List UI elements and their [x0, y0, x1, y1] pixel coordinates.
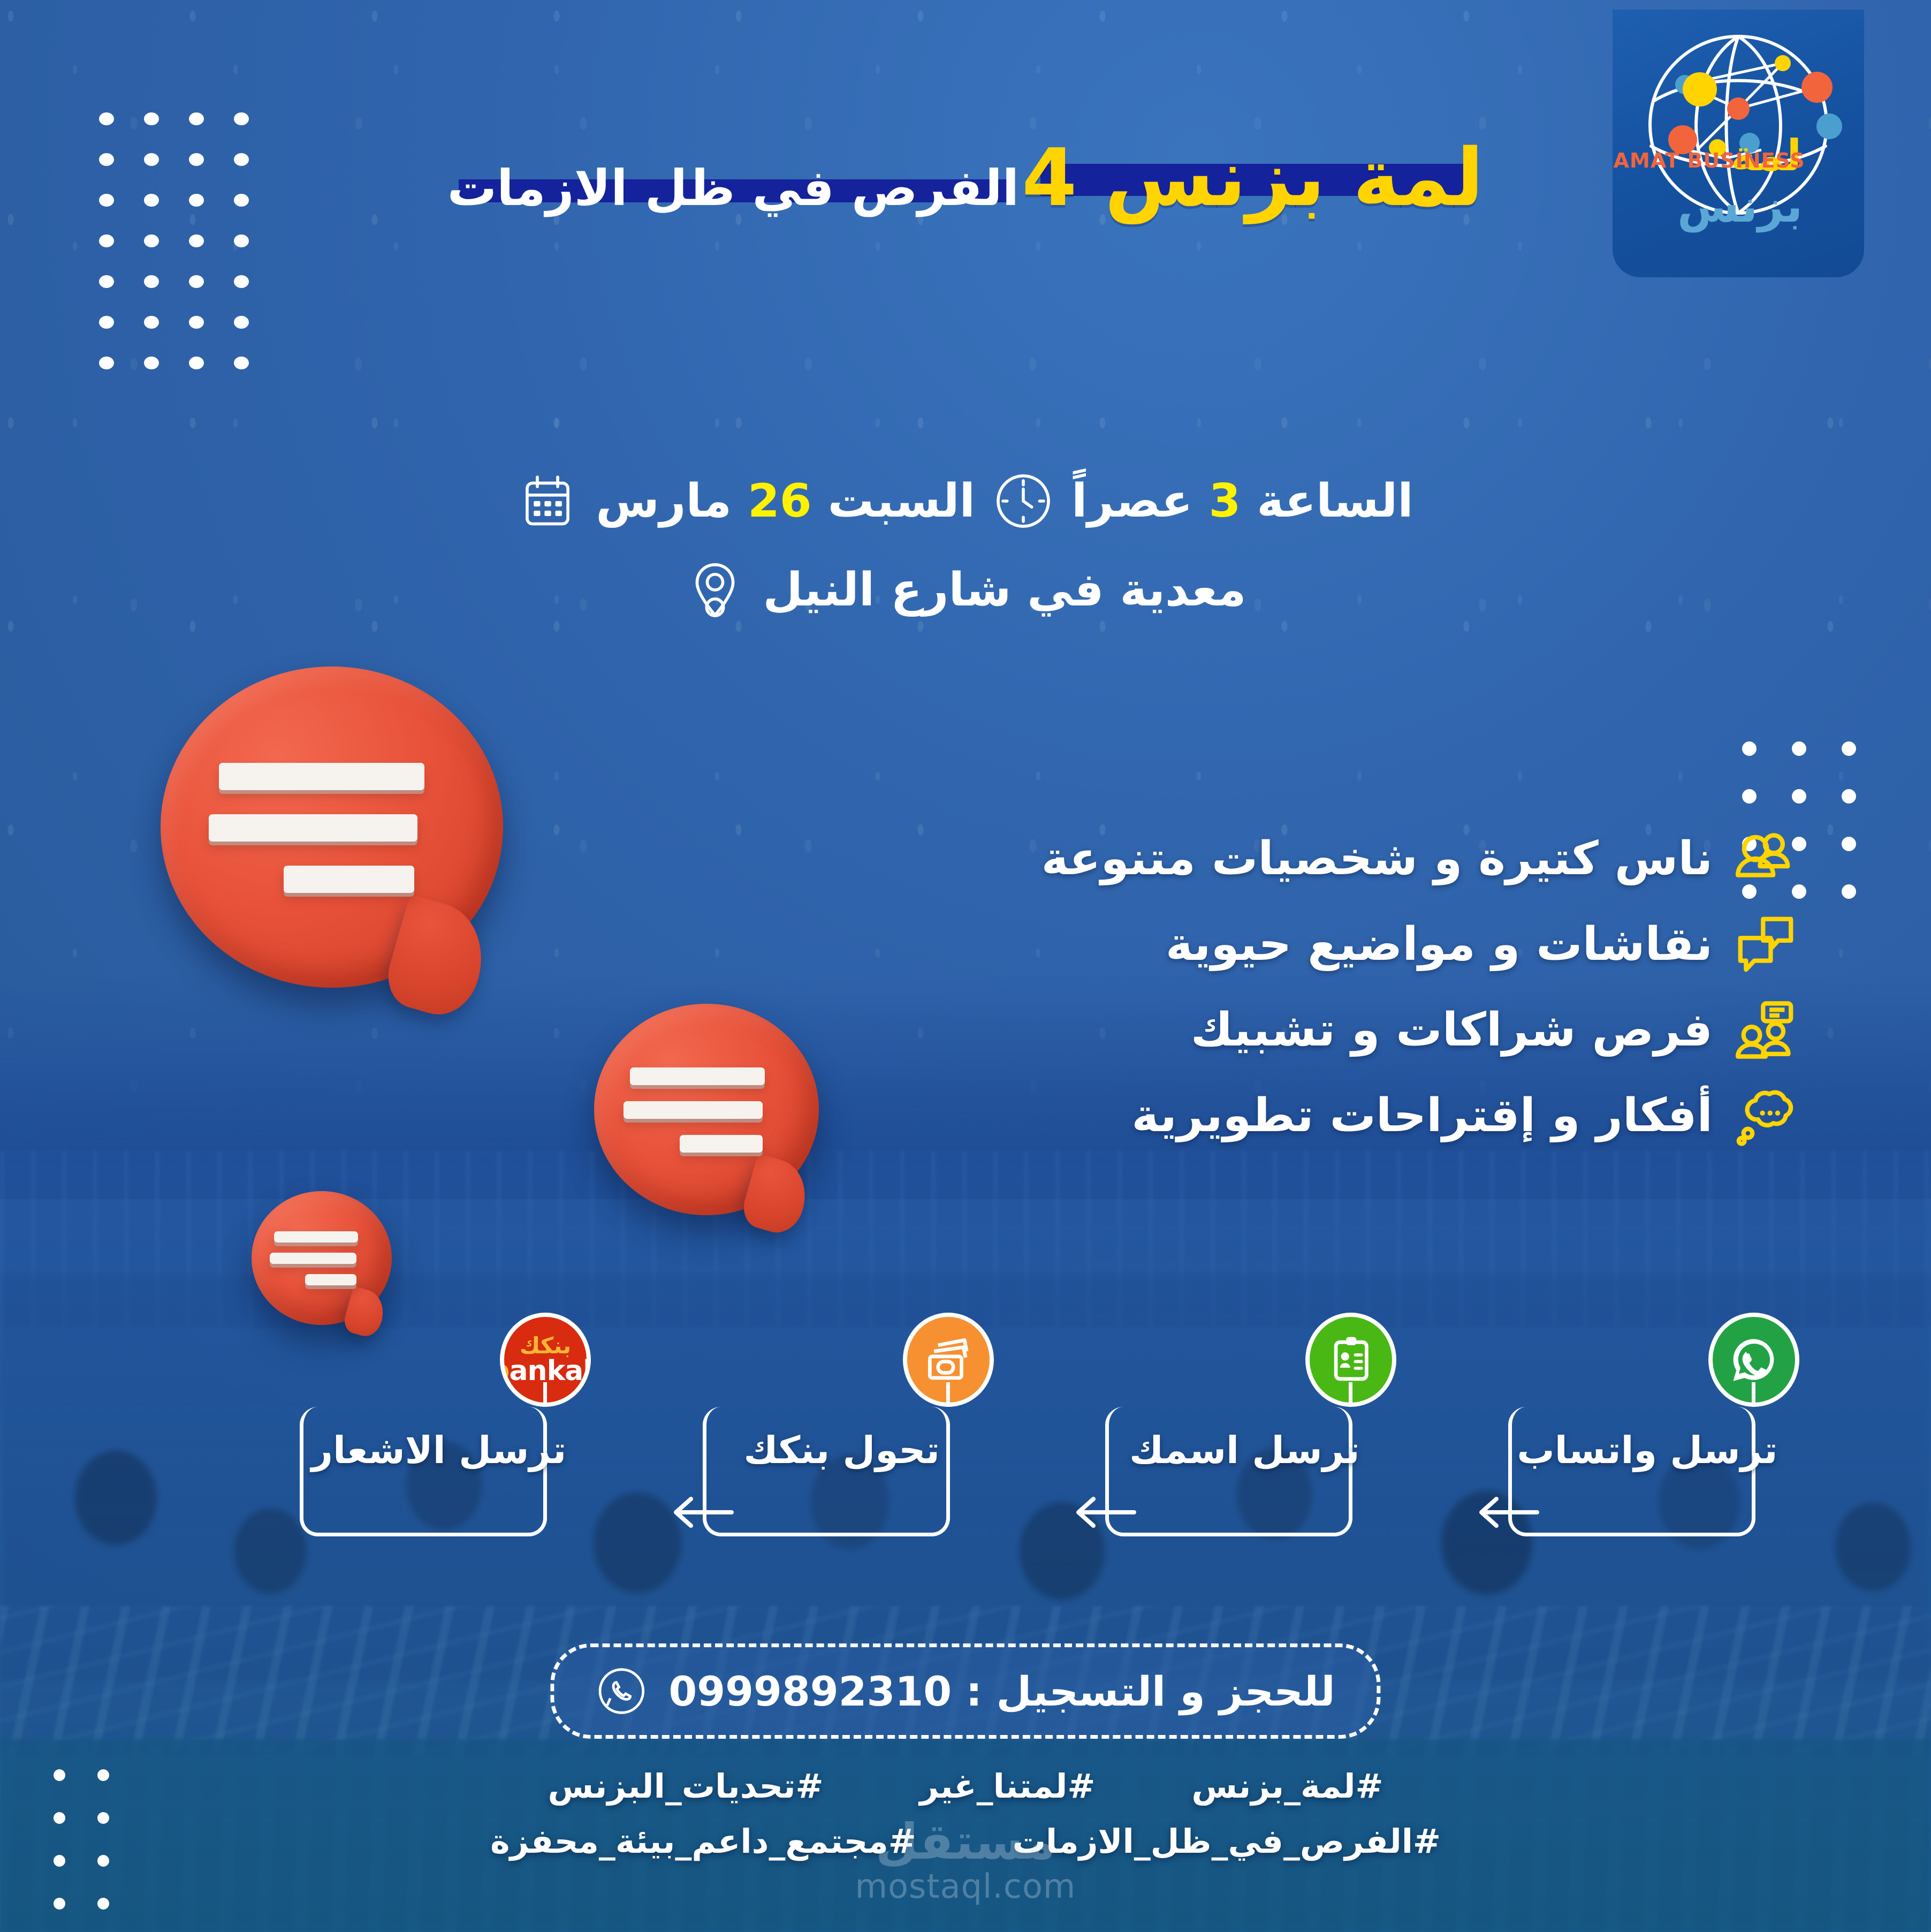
hashtag: #لمة_بزنس — [1191, 1767, 1383, 1806]
hashtag-row-1: #لمة_بزنس #لمتنا_غير #تحديات_البزنس — [0, 1767, 1931, 1806]
poster-subtitle: الفرص في ظل الازمات — [447, 160, 1019, 217]
step-label: ترسل واتساب — [1508, 1428, 1786, 1472]
thought-cloud-icon — [1734, 1084, 1797, 1147]
calendar-icon — [518, 471, 577, 531]
step-item: تحول بنكك — [703, 1360, 981, 1536]
registration-steps-flow: ترسل واتساب ترسل اسمك — [300, 1360, 1786, 1542]
event-meta: الساعة 3 عصراً السبت 26 مارس — [0, 471, 1931, 649]
logo-node-yellow — [1683, 72, 1717, 107]
feature-item: أفكار و إقتراحات تطويرية — [1041, 1084, 1797, 1147]
hashtag: #مجتمع_داعم_بيئة_محفزة — [490, 1822, 916, 1861]
users-icon — [1734, 827, 1797, 890]
feature-item: ناس كتيرة و شخصيات متنوعة — [1041, 827, 1797, 890]
step-label: ترسل اسمك — [1105, 1428, 1383, 1472]
hashtags-block: #لمة_بزنس #لمتنا_غير #تحديات_البزنس #الف… — [0, 1767, 1931, 1877]
feature-item: نقاشات و مواضيع حيوية — [1041, 913, 1797, 976]
feature-item: فرص شراكات و تشبيك — [1041, 998, 1797, 1062]
event-poster: لمة LAMAT BUSINESS بزنس لمة بزنس 4 الفرص… — [0, 0, 1931, 1932]
flow-arrow-icon — [667, 1494, 737, 1531]
hashtag: #لمتنا_غير — [919, 1767, 1095, 1806]
poster-title: لمة بزنس 4 — [1022, 132, 1484, 224]
headline-block: لمة بزنس 4 الفرص في ظل الازمات — [0, 134, 1931, 223]
bankak-arabic: بنكك — [520, 1335, 571, 1357]
logo-node-yellow — [1775, 55, 1791, 71]
clock-icon — [993, 471, 1053, 531]
features-list: ناس كتيرة و شخصيات متنوعة نقاشات و مواضي… — [1041, 827, 1797, 1147]
logo-node-orange — [1727, 97, 1750, 120]
feature-label: فرص شراكات و تشبيك — [1191, 1003, 1713, 1057]
time-text: الساعة 3 عصراً — [1071, 474, 1413, 528]
presentation-people-icon — [1734, 998, 1797, 1062]
speech-bubble-large — [161, 666, 503, 988]
feature-label: أفكار و إقتراحات تطويرية — [1131, 1089, 1713, 1142]
hashtag-row-2: #الفرص_في_ظل_الازمات #مجتمع_داعم_بيئة_مح… — [0, 1822, 1931, 1861]
datetime-row: الساعة 3 عصراً السبت 26 مارس — [0, 471, 1931, 531]
speech-bubble-medium — [594, 1004, 819, 1215]
bankak-latin: bankak — [500, 1357, 591, 1385]
chat-bubbles-icon — [1734, 913, 1797, 976]
feature-label: ناس كتيرة و شخصيات متنوعة — [1041, 832, 1713, 885]
step-item: ترسل اسمك — [1105, 1360, 1383, 1536]
logo-node-orange — [1801, 72, 1833, 103]
feature-label: نقاشات و مواضيع حيوية — [1166, 918, 1713, 971]
location-text: معدية في شارع النيل — [763, 563, 1246, 617]
location-row: معدية في شارع النيل — [0, 560, 1931, 620]
step-item: بنكك bankak ترسل الاشعار — [300, 1360, 578, 1536]
step-label: ترسل الاشعار — [300, 1428, 578, 1472]
poster-subtitle-row: الفرص في ظل الازمات — [447, 160, 1019, 218]
hashtag: #تحديات_البزنس — [548, 1767, 824, 1806]
hashtag: #الفرص_في_ظل_الازمات — [1013, 1822, 1441, 1861]
poster-title-row: لمة بزنس 4 — [1022, 134, 1484, 223]
flow-arrow-icon — [1473, 1494, 1542, 1531]
registration-text: للحجز و التسجيل : 0999892310 — [668, 1668, 1335, 1715]
registration-contact-pill[interactable]: للحجز و التسجيل : 0999892310 — [550, 1643, 1380, 1739]
step-label: تحول بنكك — [703, 1428, 981, 1472]
speech-bubble-small — [252, 1191, 392, 1325]
map-pin-icon — [685, 560, 745, 620]
step-item: ترسل واتساب — [1508, 1360, 1786, 1536]
flow-arrow-icon — [1070, 1494, 1139, 1531]
whatsapp-icon — [596, 1665, 647, 1717]
date-text: السبت 26 مارس — [596, 474, 975, 528]
